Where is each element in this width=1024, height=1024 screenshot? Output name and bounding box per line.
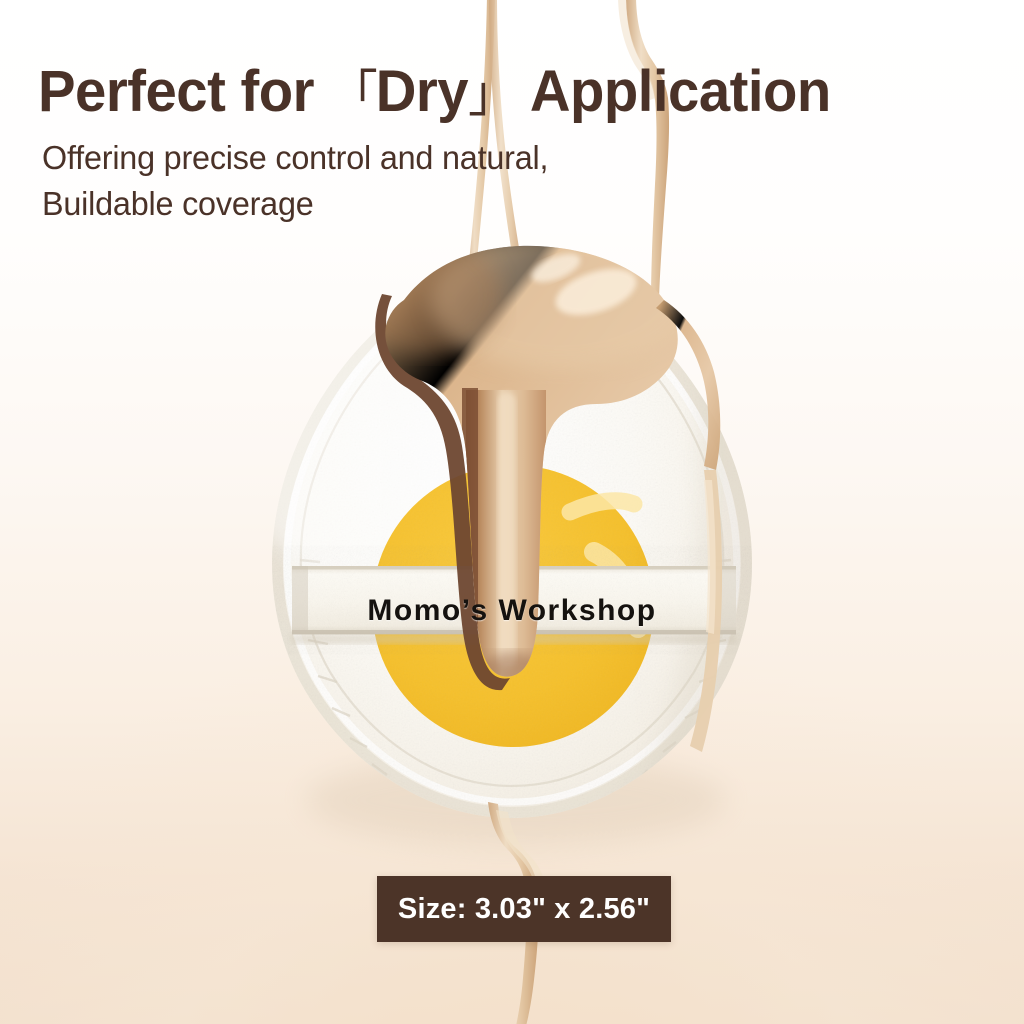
bracket-open-icon: 「 xyxy=(329,66,376,122)
headline-suffix: Application xyxy=(515,59,831,124)
headline-prefix: Perfect for xyxy=(38,59,329,124)
subtitle: Offering precise control and natural, Bu… xyxy=(42,135,920,226)
headline-emphasis: Dry xyxy=(376,59,468,124)
subtitle-line-1: Offering precise control and natural, xyxy=(42,135,920,181)
product-marketing-image: Momo’s Workshop Perfect for 「Dry」 Applic… xyxy=(0,0,1024,1024)
size-badge-text: Size: 3.03" x 2.56" xyxy=(398,893,650,926)
bracket-close-icon: 」 xyxy=(468,66,515,122)
headline-block: Perfect for 「Dry」 Application Offering p… xyxy=(38,62,938,226)
size-badge: Size: 3.03" x 2.56" xyxy=(377,876,671,942)
subtitle-line-2: Buildable coverage xyxy=(42,181,920,227)
page-title: Perfect for 「Dry」 Application xyxy=(38,62,911,121)
